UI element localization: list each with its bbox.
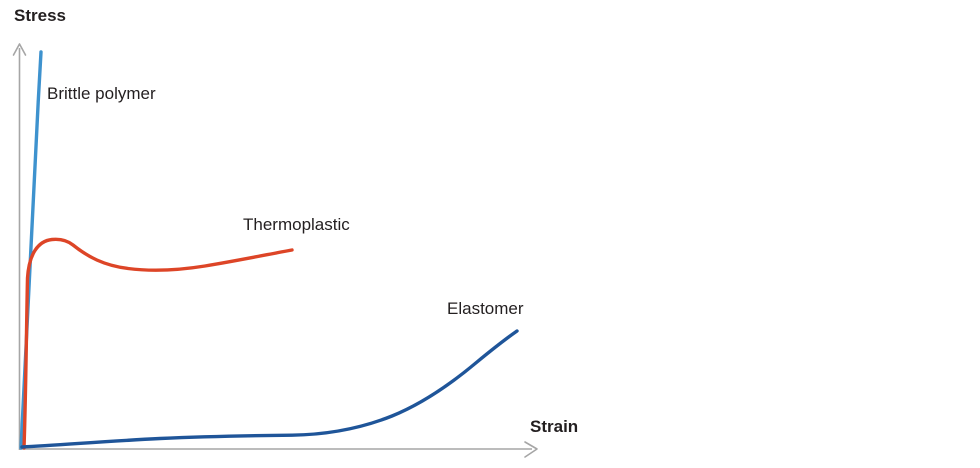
chart-canvas xyxy=(0,0,980,468)
x-axis xyxy=(19,442,537,457)
series-label-thermoplastic: Thermoplastic xyxy=(243,215,350,235)
series-label-brittle-polymer: Brittle polymer xyxy=(47,84,156,104)
y-axis-title: Stress xyxy=(14,6,66,26)
x-axis-title: Strain xyxy=(530,417,578,437)
stress-strain-chart: Stress Strain Brittle polymer Thermoplas… xyxy=(0,0,980,468)
series-curve-thermoplastic xyxy=(24,239,292,448)
series-label-elastomer: Elastomer xyxy=(447,299,524,319)
series-curve-elastomer xyxy=(22,331,517,447)
